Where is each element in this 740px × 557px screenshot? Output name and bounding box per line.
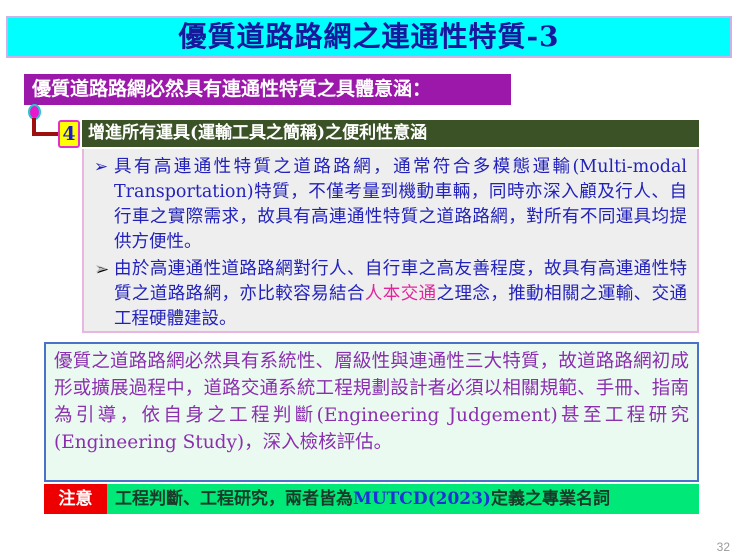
note-body: 工程判斷、工程研究，兩者皆為MUTCD(2023)定義之專業名詞	[107, 484, 699, 514]
note-bar: 注意 工程判斷、工程研究，兩者皆為MUTCD(2023)定義之專業名詞	[44, 484, 699, 514]
arrow-bullet-icon: ➢	[88, 257, 114, 282]
list-item: ➢ 由於高連通性道路路網對行人、自行車之高友善程度，故具有高連通性特質之道路路網…	[88, 257, 687, 332]
arrow-bullet-icon: ➢	[88, 155, 114, 180]
step-number-label: 4	[62, 125, 75, 144]
list-item: ➢ 具有高連通性特質之道路路網，通常符合多模態運輸(Multi-modal Tr…	[88, 155, 687, 255]
subtitle-text: 優質道路路網必然具有連通性特質之具體意涵：	[32, 80, 431, 99]
section-header-label: 增進所有運具(運輸工具之簡稱)之便利性意涵	[88, 125, 427, 142]
page-number: 32	[717, 541, 730, 553]
summary-text: 優質之道路路網必然具有系統性、層級性與連通性三大特質，故道路路網初成形或擴展過程…	[54, 348, 689, 456]
page-title: 優質道路路網之連通性特質-3	[178, 23, 559, 51]
text-run: MUTCD(2023)	[353, 489, 491, 509]
text-run: 具有高連通性特質之道路路網，通常符合多模態運輸(Multi-modal Tran…	[114, 157, 687, 252]
text-run: 工程判斷、工程研究，兩者皆為	[115, 489, 353, 509]
note-text: 工程判斷、工程研究，兩者皆為MUTCD(2023)定義之專業名詞	[115, 491, 610, 508]
subtitle-banner: 優質道路路網必然具有連通性特質之具體意涵：	[24, 74, 511, 105]
bullet-content-panel: ➢ 具有高連通性特質之道路路網，通常符合多模態運輸(Multi-modal Tr…	[82, 149, 699, 333]
text-run: 人本交通	[365, 284, 437, 304]
text-run: 定義之專業名詞	[491, 489, 610, 509]
slide-title-bar: 優質道路路網之連通性特質-3	[6, 16, 732, 58]
note-label-badge: 注意	[44, 484, 107, 514]
summary-box: 優質之道路路網必然具有系統性、層級性與連通性三大特質，故道路路網初成形或擴展過程…	[44, 342, 699, 482]
section-header-bar: 增進所有運具(運輸工具之簡稱)之便利性意涵	[82, 120, 699, 147]
bullet-text-2: 由於高連通性道路路網對行人、自行車之高友善程度，故具有高連通性特質之道路路網，亦…	[114, 257, 687, 332]
bullet-text-1: 具有高連通性特質之道路路網，通常符合多模態運輸(Multi-modal Tran…	[114, 155, 687, 255]
connector-line-horizontal	[32, 132, 60, 136]
step-number-badge: 4	[58, 120, 80, 148]
